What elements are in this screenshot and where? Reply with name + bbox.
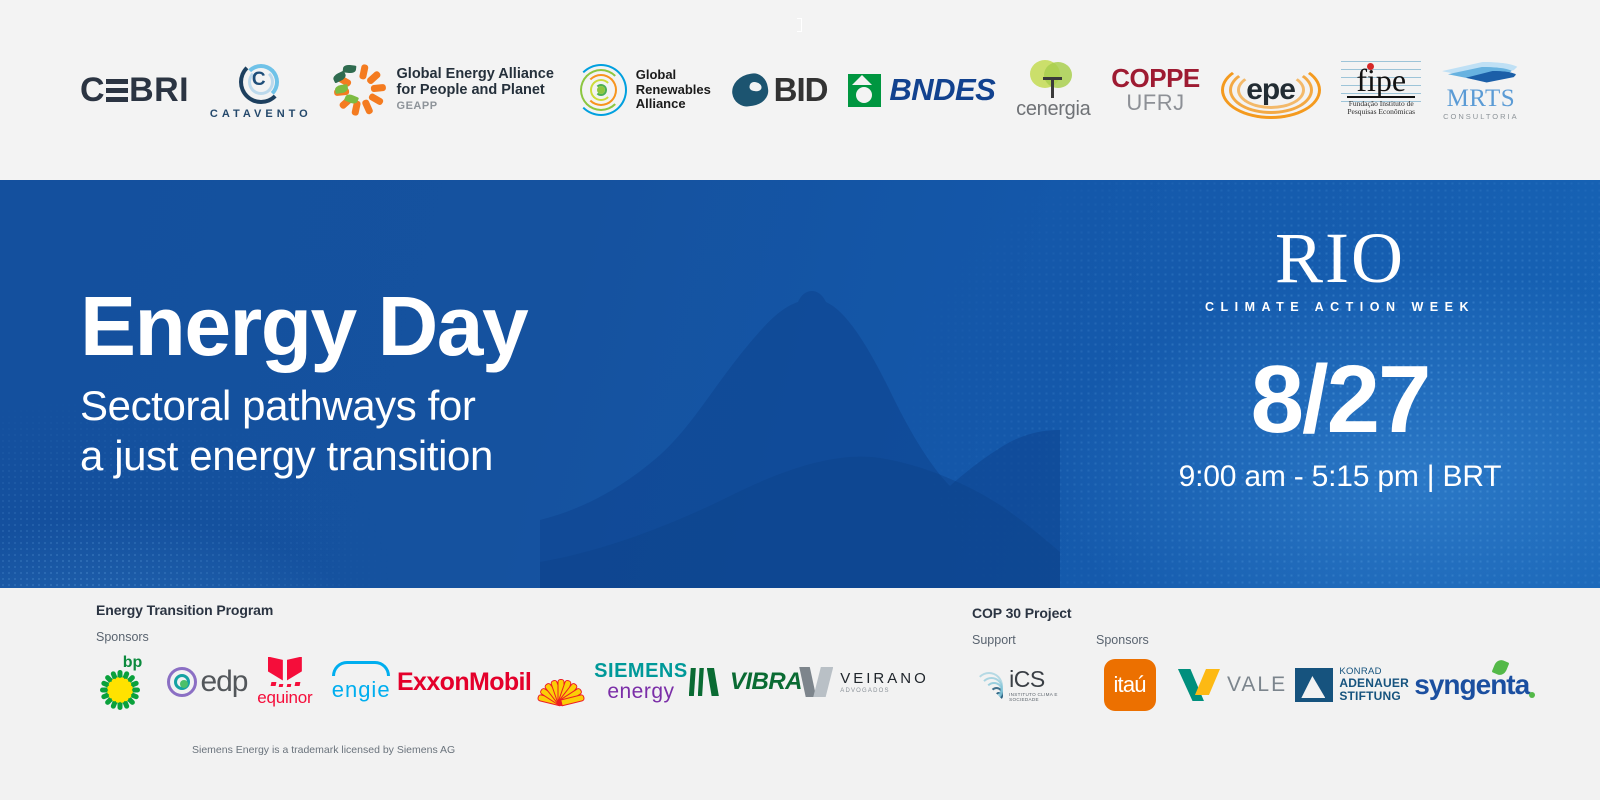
equinor-icon (265, 657, 305, 687)
mrts-swoosh-icon (1442, 60, 1520, 86)
fipe-rule (1347, 96, 1415, 98)
event-date: 8/27 (1175, 352, 1505, 448)
vale-icon (1178, 669, 1220, 701)
hero-subtitle-line1: Sectoral pathways for (80, 381, 527, 431)
partner-logo-geapp[interactable]: Global Energy Alliance for People and Pl… (333, 45, 554, 135)
partner-logo-cenergia[interactable]: cenergia (1016, 45, 1090, 135)
bid-globe-icon (730, 72, 770, 109)
catavento-label: CATAVENTO (210, 108, 312, 120)
sponsor-logo-equinor[interactable]: equinor (248, 654, 323, 710)
sponsor-logo-exxonmobil[interactable]: ExxonMobil (400, 654, 528, 710)
bp-sun-icon (99, 670, 141, 710)
left-sponsor-logos: bp edp equinor (96, 654, 926, 710)
partner-logo-fipe[interactable]: fipe Fundação Instituto de Pesquisas Eco… (1341, 45, 1421, 135)
partner-logo-epe[interactable]: epe (1221, 45, 1321, 135)
hero-banner: Energy Day Sectoral pathways for a just … (0, 180, 1600, 588)
veirano-icon (799, 667, 833, 697)
vibra-label: VIBRA (730, 668, 802, 696)
veirano-sub: ADVOGADOS (840, 688, 929, 694)
ics-icon (972, 672, 1005, 702)
sponsor-logo-vale[interactable]: VALE (1172, 657, 1293, 713)
support-logo-ics[interactable]: iCS INSTITUTO CLIMA E SOCIEDADE (972, 657, 1087, 713)
event-time: 9:00 am - 5:15 pm | BRT (1175, 460, 1505, 494)
rio-tagline: CLIMATE ACTION WEEK (1175, 300, 1505, 314)
partner-logo-global-renewables-alliance[interactable]: Global Renewables Alliance (575, 45, 711, 135)
partner-logo-bndes[interactable]: BNDES (848, 45, 995, 135)
gra-line3: Alliance (636, 97, 711, 112)
global-renewables-alliance-icon (575, 64, 627, 116)
cenergia-label: cenergia (1016, 98, 1090, 121)
hero-copy: Energy Day Sectoral pathways for a just … (80, 285, 527, 480)
sponsor-logo-konrad-adenauer-stiftung[interactable]: KONRAD ADENAUER STIFTUNG (1293, 657, 1412, 713)
coppe-label: COPPE (1111, 66, 1200, 91)
sponsor-logo-veirano[interactable]: VEIRANO ADVOGADOS (802, 654, 926, 710)
ufrj-label: UFRJ (1111, 92, 1200, 114)
partner-logo-cebri[interactable]: CBRI (80, 45, 189, 135)
footer-energy-transition-program: Energy Transition Program Sponsors bp ed… (96, 602, 926, 710)
partner-logo-mrts[interactable]: MRTS CONSULTORIA (1442, 45, 1520, 135)
trademark-disclaimer: Siemens Energy is a trademark licensed b… (192, 744, 455, 756)
itau-label: itaú (1113, 672, 1145, 698)
geapp-sun-icon (333, 63, 387, 117)
vale-label: VALE (1227, 673, 1287, 697)
gra-line1: Global (636, 68, 711, 83)
bndes-label: BNDES (889, 72, 995, 108)
page-title: Energy Day (80, 285, 527, 367)
hero-subtitle-line2: a just energy transition (80, 431, 527, 481)
partner-logo-coppe-ufrj[interactable]: COPPE UFRJ (1111, 45, 1200, 135)
right-support-label: Support (972, 633, 1096, 647)
bndes-square-icon (848, 74, 881, 107)
hero-subtitle: Sectoral pathways for a just energy tran… (80, 381, 527, 480)
sponsor-logo-siemens-energy[interactable]: SIEMENS energy (593, 654, 689, 710)
footer-cop30-project: COP 30 Project Support Sponsors iCS INST… (972, 605, 1532, 713)
engie-arc-icon (332, 661, 390, 676)
rio-climate-action-week-logo: RIO (1175, 220, 1505, 296)
siemens-energy-label: energy (594, 681, 688, 702)
sponsor-logo-vibra[interactable]: VIBRA (689, 654, 802, 710)
syngenta-label: syngenta (1414, 669, 1529, 701)
mrts-sub: CONSULTORIA (1443, 112, 1518, 121)
sponsor-logo-syngenta[interactable]: syngenta (1411, 657, 1532, 713)
left-sponsors-label: Sponsors (96, 630, 149, 644)
engie-label: engie (332, 677, 391, 703)
catavento-mark-letter: C (252, 69, 266, 91)
vibra-icon (689, 668, 723, 696)
bracket-artifact (797, 18, 802, 32)
right-sponsors-label: Sponsors (1096, 633, 1149, 647)
geapp-acronym: GEAPP (397, 101, 554, 113)
cebri-letter-c: C (80, 71, 105, 110)
itau-icon: itaú (1104, 659, 1156, 711)
siemens-label: SIEMENS (594, 661, 688, 681)
konrad-adenauer-stiftung-icon (1295, 668, 1333, 702)
mrts-label: MRTS (1447, 86, 1516, 111)
fipe-label: fipe (1347, 65, 1415, 95)
partner-logo-catavento[interactable]: C CATAVENTO (210, 45, 312, 135)
gra-line2: Renewables (636, 83, 711, 98)
sugarloaf-mountain-silhouette (540, 190, 1060, 588)
edp-icon (167, 667, 197, 697)
shell-pecten-icon (536, 658, 586, 706)
rio-wordmark: RIO (1275, 222, 1405, 294)
footer: Energy Transition Program Sponsors bp ed… (0, 588, 1600, 800)
cebri-letters-bri: BRI (129, 71, 189, 110)
sponsor-logo-engie[interactable]: engie (322, 654, 400, 710)
ics-label: iCS (1009, 668, 1087, 691)
equinor-label: equinor (257, 688, 312, 708)
sponsor-logo-edp[interactable]: edp (167, 654, 247, 710)
sponsor-logo-shell[interactable] (528, 654, 593, 710)
veirano-label: VEIRANO (840, 671, 929, 686)
syngenta-dot-icon (1529, 692, 1535, 698)
bid-label: BID (774, 71, 828, 109)
fipe-sub2: Pesquisas Econômicas (1347, 108, 1415, 117)
hero-brand-block: RIO CLIMATE ACTION WEEK 8/27 9:00 am - 5… (1175, 220, 1505, 494)
edp-label: edp (200, 665, 247, 699)
geapp-line2: for People and Planet (397, 83, 554, 99)
cop30-project-heading: COP 30 Project (972, 605, 1532, 621)
cebri-e-icon (106, 77, 128, 104)
cebri-wordmark: CBRI (80, 71, 189, 110)
right-footer-logos: iCS INSTITUTO CLIMA E SOCIEDADE itaú VAL… (972, 657, 1532, 713)
energy-transition-program-heading: Energy Transition Program (96, 602, 926, 618)
cenergia-tree-icon (1028, 60, 1078, 100)
catavento-icon: C (239, 60, 283, 104)
ics-sub: INSTITUTO CLIMA E SOCIEDADE (1009, 693, 1087, 702)
geapp-line1: Global Energy Alliance (397, 67, 554, 83)
partner-logo-bid[interactable]: BID (732, 45, 828, 135)
kas-line3: STIFTUNG (1339, 690, 1409, 703)
epe-label: epe (1246, 73, 1295, 107)
sponsor-logo-bp[interactable]: bp (96, 654, 167, 710)
sponsor-logo-itau[interactable]: itaú (1087, 657, 1172, 713)
top-partner-logos: CBRI C CATAVENTO Global Energy Alliance … (70, 45, 1530, 135)
exxonmobil-label: ExxonMobil (397, 668, 531, 697)
